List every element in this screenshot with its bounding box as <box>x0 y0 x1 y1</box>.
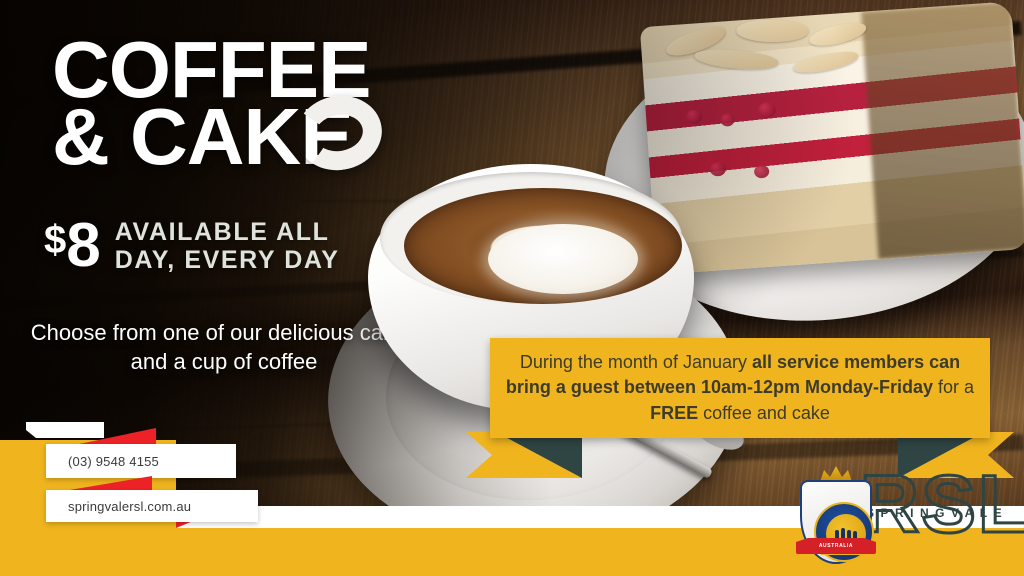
availability-text: AVAILABLE ALL DAY, EVERY DAY <box>115 218 340 274</box>
availability-line-1: AVAILABLE ALL <box>115 218 340 246</box>
ribbon-segment-5: coffee and cake <box>698 403 830 423</box>
page-title: COFFEE & CAKE <box>52 36 472 170</box>
price-block: $8 AVAILABLE ALL DAY, EVERY DAY <box>44 218 340 274</box>
promo-ribbon-banner: During the month of January all service … <box>466 338 1014 478</box>
promotional-poster: COFFEE & CAKE $8 AVAILABLE ALL DAY, EVER… <box>0 0 1024 576</box>
rsl-suburb-label: SPRINGVALE <box>866 506 1008 520</box>
ribbon-body: During the month of January all service … <box>490 338 990 438</box>
website-url[interactable]: springvalersl.com.au <box>46 490 258 522</box>
rsl-badge-icon: LEAGUE AUSTRALIA <box>794 466 878 570</box>
ribbon-message: During the month of January all service … <box>490 350 990 427</box>
milk-foam <box>488 224 638 294</box>
badge-country-ribbon: AUSTRALIA <box>796 538 876 554</box>
rsl-logo: RSL SPRINGVALE LEAGUE AUSTRALIA <box>794 462 1014 574</box>
rsl-wordmark: RSL <box>860 464 1024 546</box>
price-value: $8 <box>44 218 101 274</box>
ribbon-segment-3: for a <box>933 377 974 397</box>
ribbon-segment-1: During the month of January <box>520 352 752 372</box>
badge-country-label: AUSTRALIA <box>796 538 876 554</box>
contact-details: (03) 9548 4155 springvalersl.com.au <box>18 422 288 522</box>
ribbon-segment-4: FREE <box>650 403 698 423</box>
price-amount: 8 <box>66 211 100 280</box>
availability-line-2: DAY, EVERY DAY <box>115 246 340 274</box>
offer-description: Choose from one of our delicious cakes a… <box>24 318 424 376</box>
contact-ribbon-flag <box>26 422 104 438</box>
cup-rim <box>380 172 682 304</box>
headline-line-2: & CAKE <box>52 103 472 170</box>
phone-number[interactable]: (03) 9548 4155 <box>46 444 236 478</box>
currency-symbol: $ <box>44 218 66 262</box>
coffee-crema <box>404 188 682 304</box>
